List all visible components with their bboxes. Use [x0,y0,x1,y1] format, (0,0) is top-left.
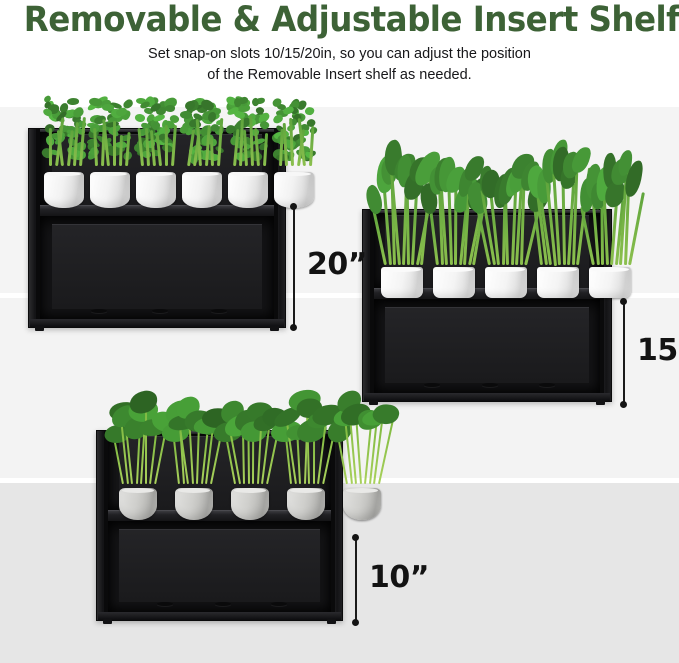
shelf-post-left [97,431,108,620]
potted-plant [271,96,317,208]
plant-row-10in [110,382,329,520]
shelf-hole [157,602,173,606]
shelf-hole [91,309,107,313]
potted-plant [480,157,532,298]
plant-broadleaf [584,157,636,267]
shelf-hole [482,383,498,387]
shelf-bottom-rail [364,393,610,401]
shelf-unit-10in [96,430,343,621]
shelf-hole [271,602,287,606]
plant-bird-of-paradise [278,384,334,488]
dimension-label-15in: 15” [637,336,679,366]
pot-white-cylinder [381,267,423,298]
shelf-lower-backpanel [52,224,263,309]
potted-plant [110,384,166,520]
plant-broadleaf [376,157,428,267]
dimension-label-10in: 10” [369,563,429,593]
shelf-unit-20in [28,128,286,328]
shelf-foot [103,619,112,624]
potted-plant [222,384,278,520]
potted-plant [584,157,636,298]
shelf-lower-cavity [374,299,600,393]
potted-plant [532,157,584,298]
shelf-lower-cavity [108,521,331,612]
shelf-hole [152,309,168,313]
potted-plant [428,157,480,298]
shelf-unit-15in [362,209,612,402]
pot-white-tapered [182,172,222,208]
shelf-foot [327,619,336,624]
pot-white-cylinder [485,267,527,298]
pot-gray-bowl [343,488,381,520]
pot-white-cylinder [433,267,475,298]
shelf-post-left [363,210,374,401]
shelf-post-left [29,129,40,327]
potted-plant [179,96,225,208]
plant-bushy [225,96,271,172]
pot-white-tapered [44,172,84,208]
pot-gray-bowl [287,488,325,520]
page-subtitle: Set snap-on slots 10/15/20in, so you can… [0,44,679,86]
shelf-lower-backpanel [385,307,588,383]
potted-plant [376,157,428,298]
potted-plant [87,96,133,208]
plant-row-15in [376,156,598,298]
pot-white-tapered [90,172,130,208]
pot-white-tapered [228,172,268,208]
plant-broadleaf [480,157,532,267]
infographic-stage: Removable & Adjustable Insert Shelf Set … [0,0,679,663]
pot-gray-bowl [119,488,157,520]
shelf-lower-cavity [40,216,274,319]
plant-bird-of-paradise [222,384,278,488]
shelf-bottom-rail [98,612,341,620]
plant-bushy [133,96,179,172]
pot-white-cylinder [589,267,631,298]
page-title: Removable & Adjustable Insert Shelf [24,2,655,38]
plant-bushy [271,96,317,172]
potted-plant [41,96,87,208]
potted-plant [166,384,222,520]
shelf-hole [211,309,227,313]
shelf-foot [596,400,605,405]
plant-bushy [87,96,133,172]
pot-white-cylinder [537,267,579,298]
header: Removable & Adjustable Insert Shelf Set … [0,0,679,92]
shelf-lower-backpanel [119,529,320,602]
shelf-foot [35,326,44,331]
potted-plant [278,384,334,520]
shelf-bottom-rail [30,319,284,327]
shelf-foot [270,326,279,331]
potted-plant [225,96,271,208]
potted-plant [334,384,390,520]
pot-white-tapered [136,172,176,208]
shelf-hole [424,383,440,387]
plant-bushy [179,96,225,172]
plant-bird-of-paradise [334,384,390,488]
plant-broadleaf [532,157,584,267]
potted-plant [133,96,179,208]
shelf-hole [539,383,555,387]
pot-gray-bowl [231,488,269,520]
pot-gray-bowl [175,488,213,520]
shelf-hole [215,602,231,606]
plant-broadleaf [428,157,480,267]
plant-bushy [41,96,87,172]
plant-bird-of-paradise [110,384,166,488]
dimension-label-20in: 20” [307,250,367,280]
